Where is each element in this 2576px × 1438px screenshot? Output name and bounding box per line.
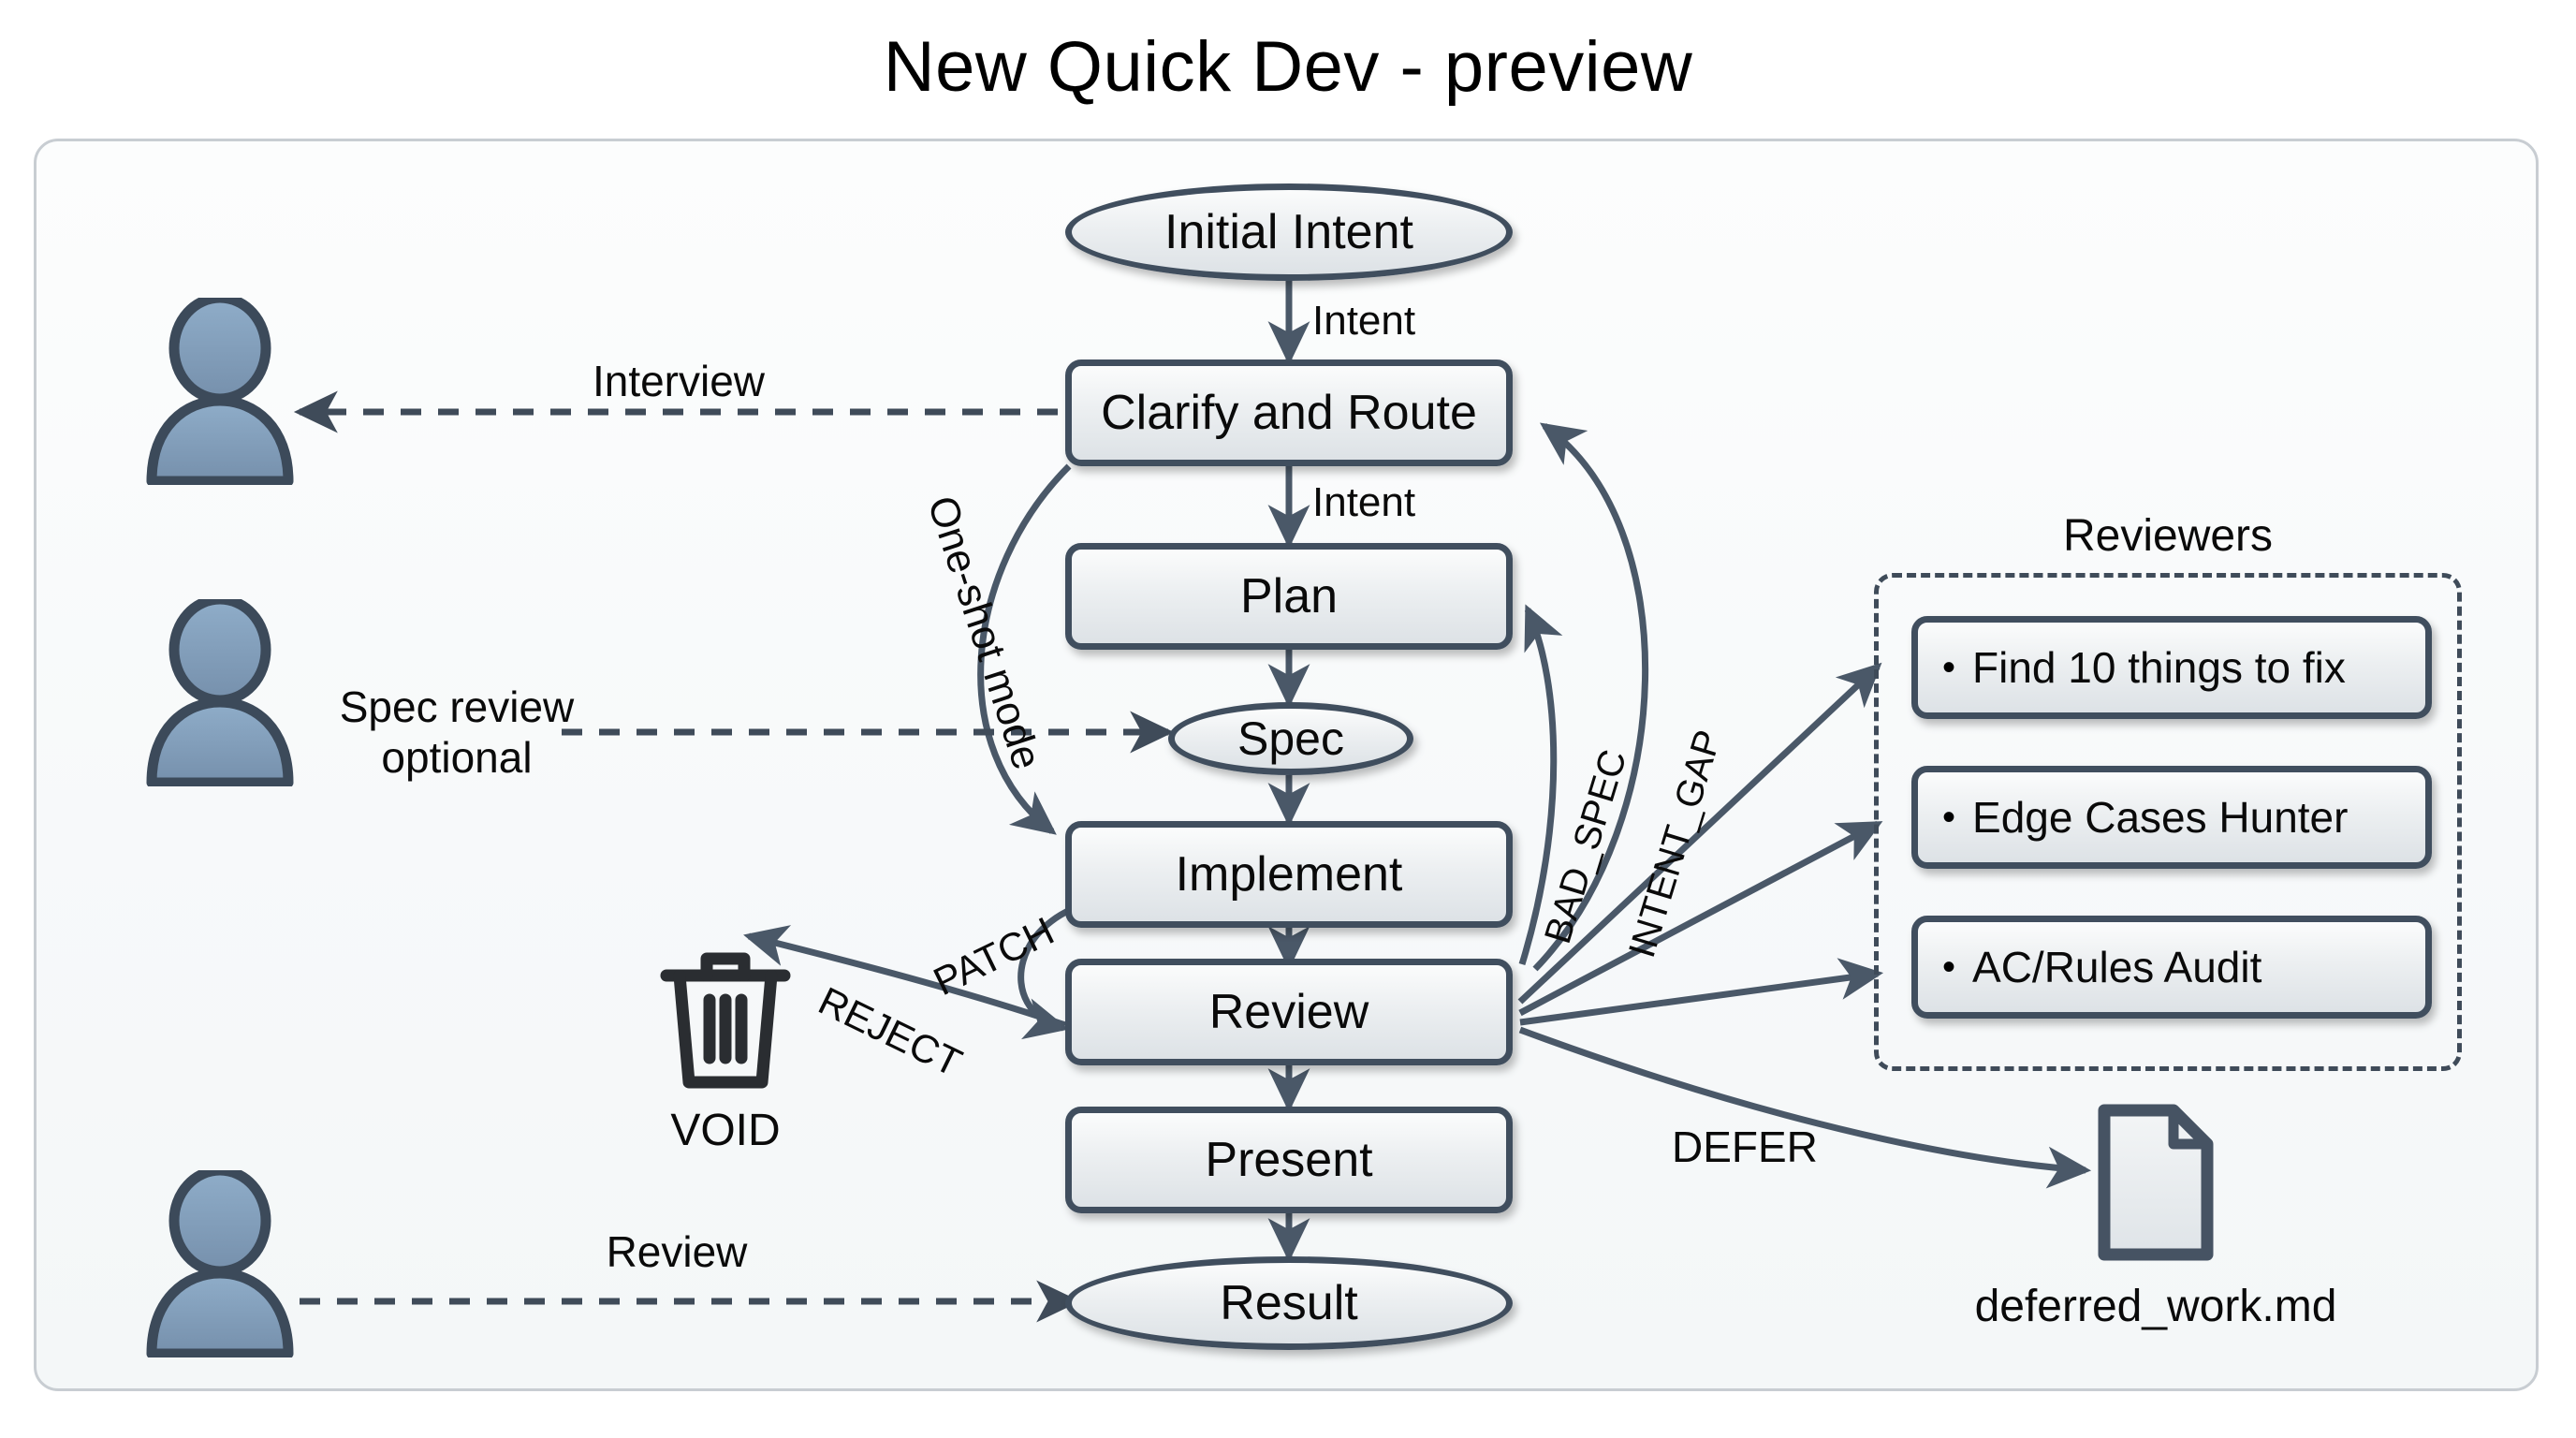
node-present-label: Present xyxy=(1205,1132,1372,1188)
node-review-label: Review xyxy=(1209,984,1369,1040)
person-icon xyxy=(140,298,300,485)
person-icon xyxy=(140,599,300,786)
node-plan[interactable]: Plan xyxy=(1065,543,1513,650)
bullet-icon: • xyxy=(1942,948,1955,986)
edge-label-intent-2: Intent xyxy=(1312,479,1415,525)
actor-interview[interactable] xyxy=(140,298,300,485)
actor-review[interactable] xyxy=(140,1170,300,1357)
node-result[interactable]: Result xyxy=(1065,1256,1513,1350)
edge-label-intent-1: Intent xyxy=(1312,298,1415,344)
node-result-label: Result xyxy=(1220,1275,1357,1331)
reviewer-item-ac-rules-audit[interactable]: • AC/Rules Audit xyxy=(1911,916,2432,1019)
trash-icon xyxy=(655,944,796,1098)
node-implement[interactable]: Implement xyxy=(1065,821,1513,928)
person-icon xyxy=(140,1170,300,1357)
void-label: VOID xyxy=(646,1105,805,1156)
document-icon xyxy=(2093,1099,2218,1270)
node-clarify-and-route[interactable]: Clarify and Route xyxy=(1065,359,1513,466)
node-initial-intent[interactable]: Initial Intent xyxy=(1065,183,1513,281)
reviewer-item-label: Find 10 things to fix xyxy=(1972,642,2346,693)
node-spec-label: Spec xyxy=(1237,712,1344,766)
edge-label-defer: DEFER xyxy=(1672,1123,1818,1172)
diagram-canvas: New Quick Dev - preview xyxy=(0,0,2576,1438)
edge-label-interview: Interview xyxy=(524,356,833,406)
actor-spec-review[interactable] xyxy=(140,599,300,786)
node-initial-intent-label: Initial Intent xyxy=(1164,204,1413,260)
deferred-work-label: deferred_work.md xyxy=(1900,1281,2411,1332)
node-spec[interactable]: Spec xyxy=(1168,702,1413,775)
bullet-icon: • xyxy=(1942,799,1955,836)
reviewer-item-edge-cases-hunter[interactable]: • Edge Cases Hunter xyxy=(1911,766,2432,869)
reviewers-cluster-label: Reviewers xyxy=(1874,510,2462,562)
reviewer-item-label: Edge Cases Hunter xyxy=(1972,792,2348,843)
node-present[interactable]: Present xyxy=(1065,1107,1513,1213)
node-implement-label: Implement xyxy=(1176,846,1403,902)
bullet-icon: • xyxy=(1942,649,1955,686)
page-title: New Quick Dev - preview xyxy=(0,26,2576,108)
node-plan-label: Plan xyxy=(1240,568,1338,624)
node-review[interactable]: Review xyxy=(1065,959,1513,1065)
node-clarify-and-route-label: Clarify and Route xyxy=(1101,385,1477,441)
edge-label-spec-review-optional: Spec review optional xyxy=(298,682,616,784)
edge-label-review-actor: Review xyxy=(541,1226,812,1277)
reviewer-item-find-10-things-to-fix[interactable]: • Find 10 things to fix xyxy=(1911,616,2432,719)
reviewer-item-label: AC/Rules Audit xyxy=(1972,942,2261,992)
